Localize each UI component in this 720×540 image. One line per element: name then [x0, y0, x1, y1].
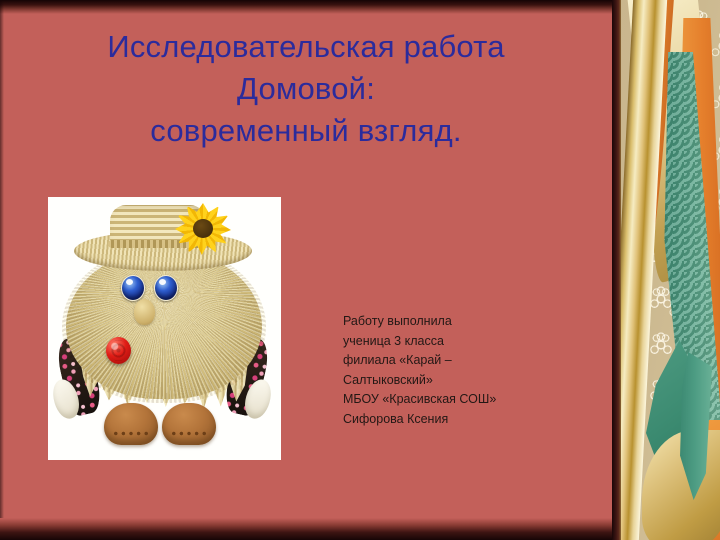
slide-top-edge-shadow [0, 0, 612, 14]
decorative-side-band [612, 0, 720, 540]
doll-illustration [48, 197, 281, 460]
author-line-4: Салтыковский» [343, 371, 598, 391]
slide-bottom-edge-shadow [0, 518, 612, 540]
band-dark-edge [612, 0, 621, 540]
author-line-1: Работу выполнила [343, 312, 598, 332]
doll-eye-right-icon [154, 275, 178, 301]
title-line-3: современный взгляд. [22, 110, 590, 152]
author-text-block: Работу выполнила ученица 3 класса филиал… [343, 312, 598, 429]
title-line-1: Исследовательская работа [22, 26, 590, 68]
sunflower-icon [175, 203, 231, 255]
title-line-2: Домовой: [22, 68, 590, 110]
author-line-3: филиала «Карай – [343, 351, 598, 371]
doll-shoe-left-icon [104, 403, 158, 445]
red-berry-icon [106, 337, 131, 364]
doll-nose-icon [134, 299, 155, 325]
author-line-2: ученица 3 класса [343, 332, 598, 352]
sunflower-disc-icon [193, 219, 213, 238]
slide-title: Исследовательская работа Домовой: соврем… [22, 26, 590, 152]
author-line-5: МБОУ «Красивская СОШ» [343, 390, 598, 410]
domovoi-doll-image [48, 197, 281, 460]
straw-body-icon [66, 249, 262, 399]
slide-content-area: Исследовательская работа Домовой: соврем… [0, 0, 612, 540]
doll-shoe-right-icon [162, 403, 216, 445]
slide-left-edge-shadow [0, 0, 4, 540]
author-line-6: Сифорова Ксения [343, 410, 598, 430]
presentation-slide: Исследовательская работа Домовой: соврем… [0, 0, 720, 540]
doll-eye-left-icon [121, 275, 145, 301]
